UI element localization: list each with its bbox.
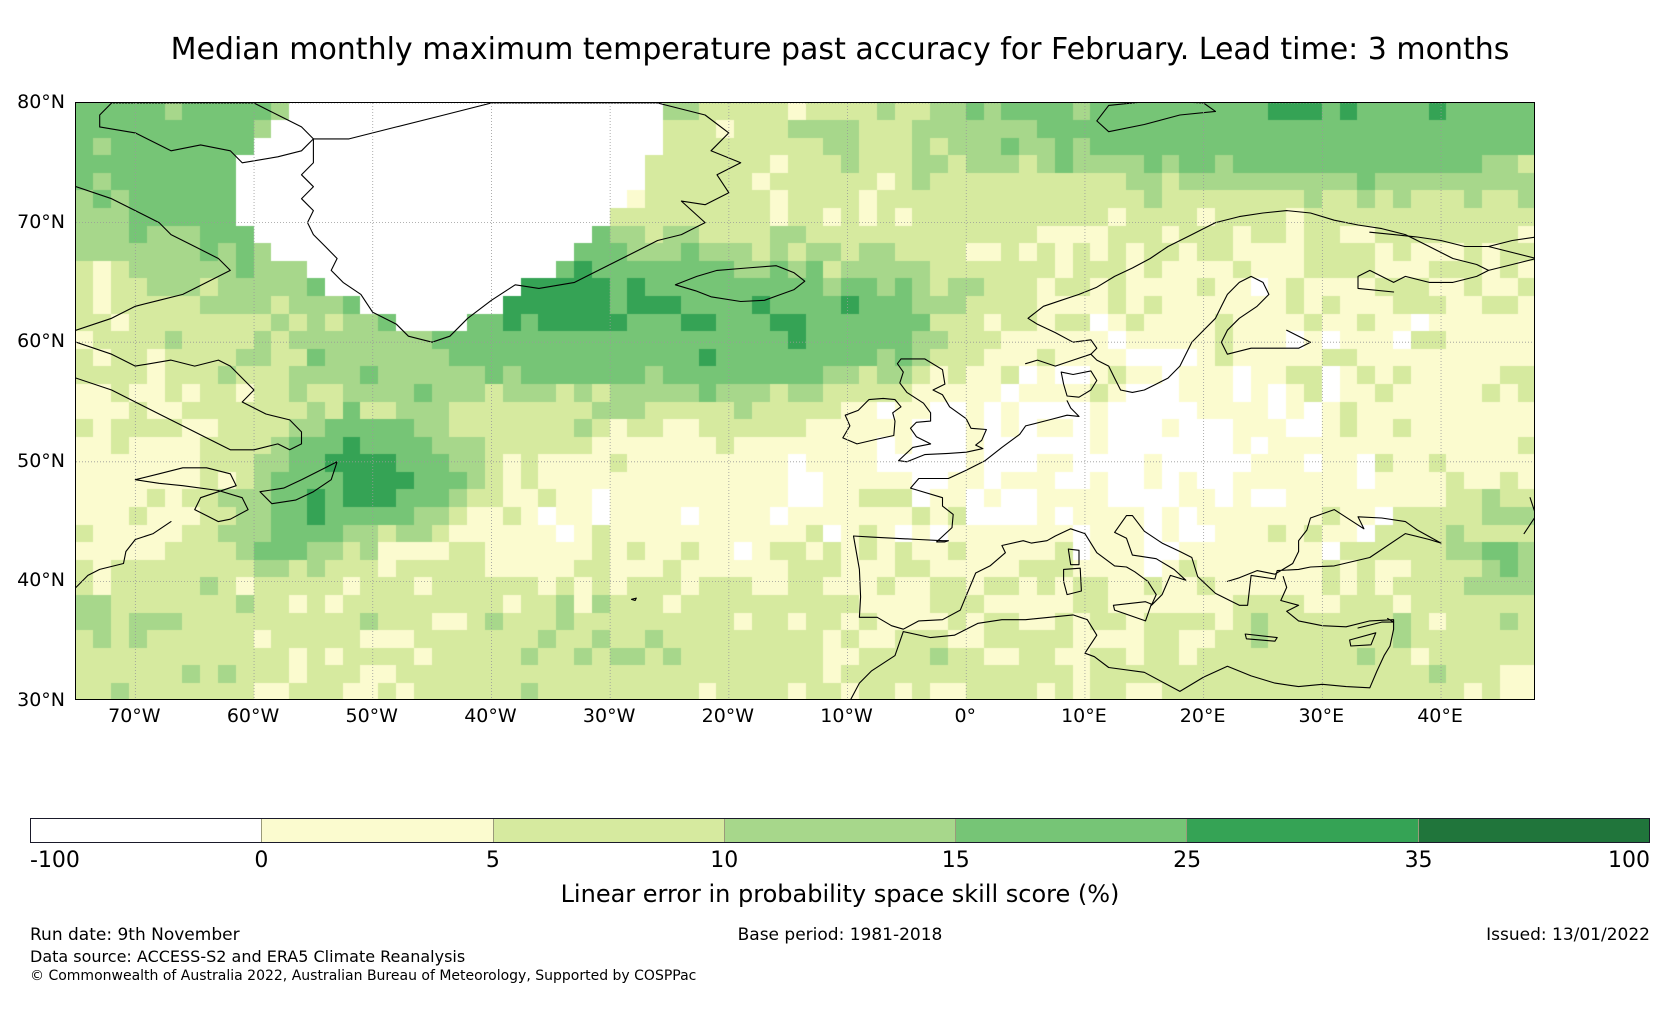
colorbar-tick-label: 15 (942, 848, 970, 873)
colorbar-axis-label: Linear error in probability space skill … (0, 880, 1680, 908)
lat-tick-label: 50°N (17, 450, 65, 472)
colorbar-tick-label: 5 (486, 848, 500, 873)
lon-tick-label: 50°W (346, 705, 398, 727)
lon-tick-label: 0° (954, 705, 976, 727)
skill-score-heatmap (76, 103, 1535, 700)
base-period-text: Base period: 1981-2018 (0, 925, 1680, 945)
colorbar-tick-label: 0 (254, 848, 268, 873)
colorbar-segment-2 (494, 819, 725, 842)
lat-tick-label: 80°N (17, 91, 65, 113)
lon-tick-label: 10°E (1061, 705, 1107, 727)
lon-tick-label: 10°W (820, 705, 872, 727)
map-plot-area[interactable] (75, 102, 1535, 700)
climate-map-figure: Median monthly maximum temperature past … (0, 0, 1680, 1020)
colorbar-tick-label: -100 (30, 848, 80, 873)
lat-tick-label: 60°N (17, 330, 65, 352)
colorbar-segment-1 (262, 819, 493, 842)
lon-tick-label: 40°W (464, 705, 516, 727)
colorbar-segment-3 (725, 819, 956, 842)
colorbar-segment-4 (956, 819, 1187, 842)
lat-tick-label: 30°N (17, 689, 65, 711)
colorbar-tick-label: 35 (1405, 848, 1433, 873)
copyright-text: © Commonwealth of Australia 2022, Austra… (30, 968, 696, 984)
page-title: Median monthly maximum temperature past … (0, 32, 1680, 67)
colorbar[interactable] (30, 818, 1650, 843)
colorbar-segment-0 (31, 819, 262, 842)
colorbar-tick-label: 25 (1173, 848, 1201, 873)
colorbar-tick-label: 100 (1608, 848, 1650, 873)
colorbar-tick-label: 10 (710, 848, 738, 873)
lon-tick-label: 20°E (1180, 705, 1226, 727)
colorbar-segment-5 (1187, 819, 1418, 842)
lon-tick-label: 70°W (108, 705, 160, 727)
lon-tick-label: 40°E (1417, 705, 1463, 727)
colorbar-gradient (30, 818, 1650, 843)
figure-footer: Run date: 9th November Base period: 1981… (0, 925, 1680, 1005)
lat-tick-label: 40°N (17, 569, 65, 591)
lon-tick-label: 60°W (227, 705, 279, 727)
lat-tick-label: 70°N (17, 211, 65, 233)
lon-tick-label: 30°E (1298, 705, 1344, 727)
lon-tick-label: 30°W (583, 705, 635, 727)
data-source-text: Data source: ACCESS-S2 and ERA5 Climate … (30, 947, 465, 966)
colorbar-segment-6 (1419, 819, 1649, 842)
issued-date-text: Issued: 13/01/2022 (1486, 925, 1650, 945)
lon-tick-label: 20°W (702, 705, 754, 727)
